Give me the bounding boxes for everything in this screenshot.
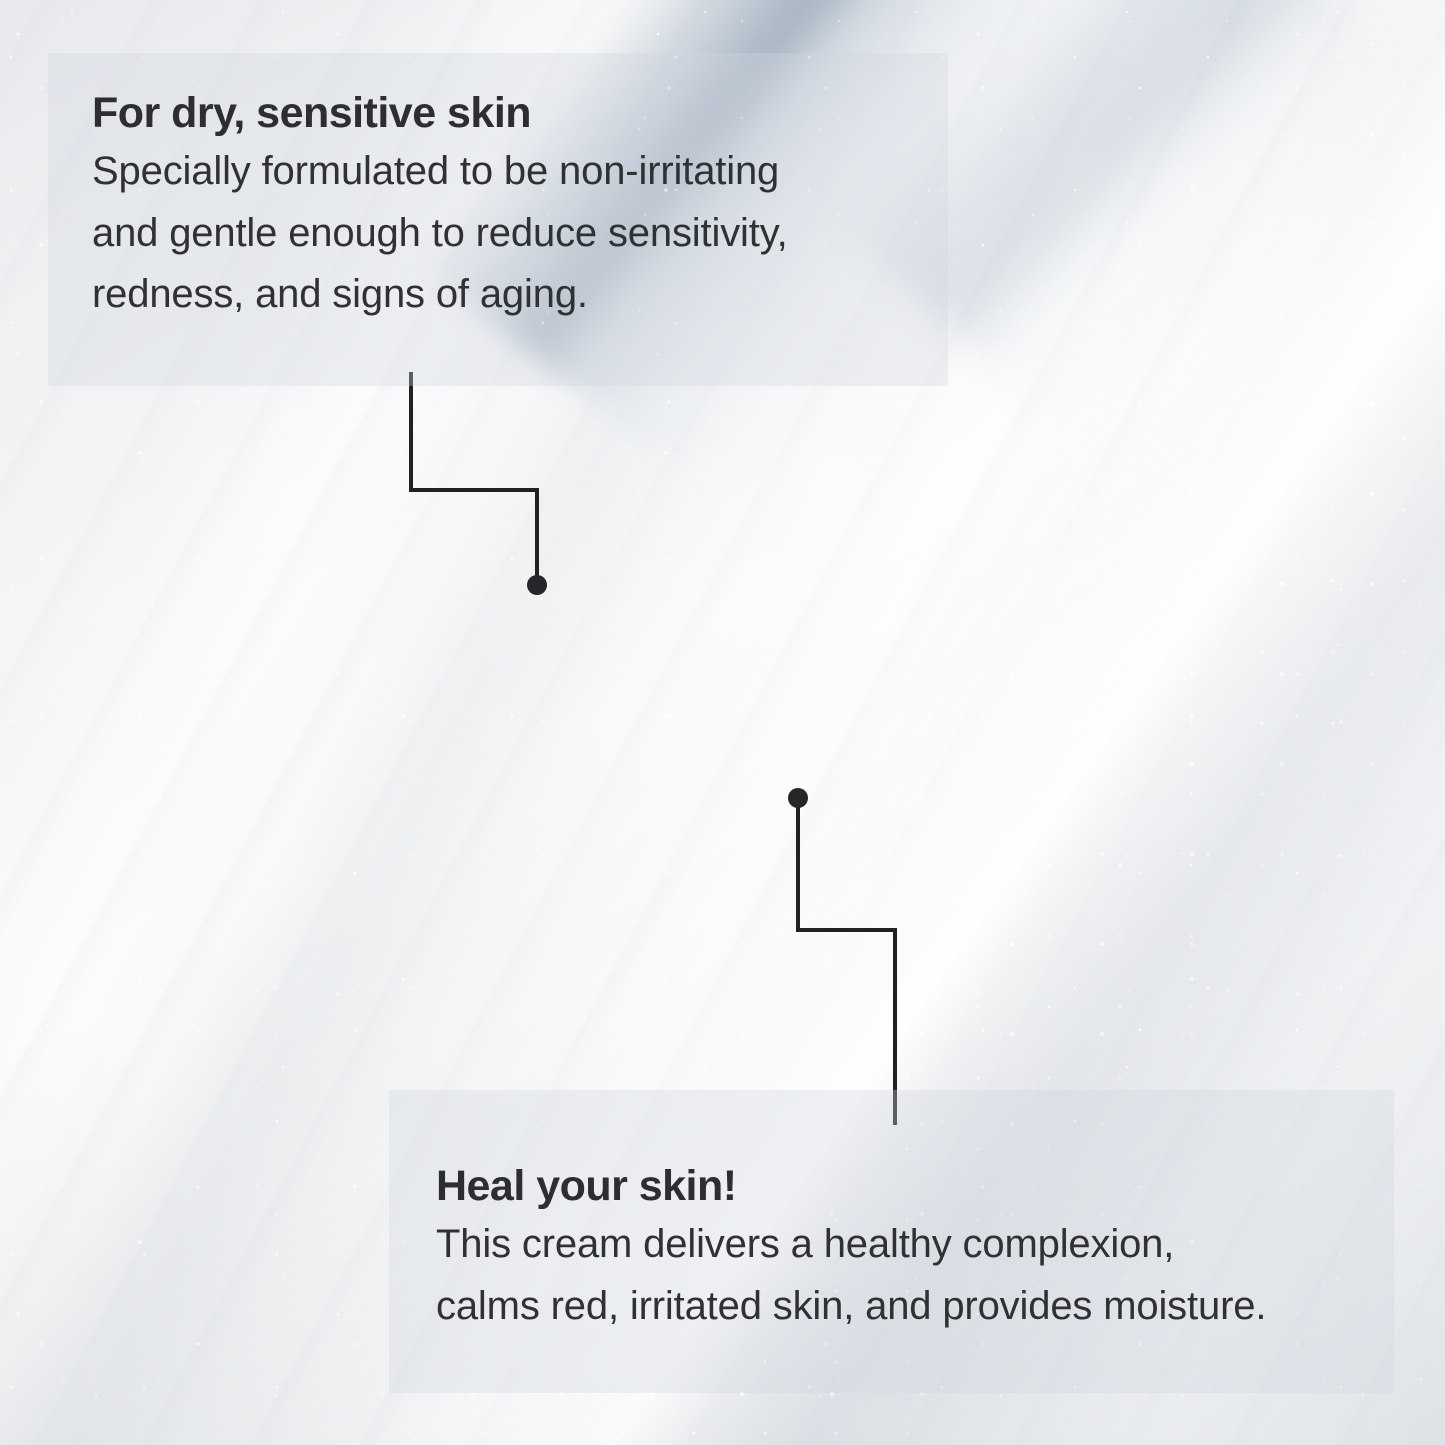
leader-dot-top-icon (527, 575, 547, 595)
callout-body: Specially formulated to be non-irritatin… (92, 141, 908, 326)
callout-body: This cream delivers a healthy complexion… (436, 1214, 1364, 1337)
callout-heading: For dry, sensitive skin (92, 89, 908, 137)
callout-heal-your-skin: Heal your skin! This cream delivers a he… (389, 1090, 1394, 1393)
callout-dry-sensitive-skin: For dry, sensitive skin Specially formul… (48, 53, 948, 386)
leader-line-bottom (798, 806, 895, 1125)
callout-heading: Heal your skin! (436, 1162, 1364, 1210)
leader-dot-bottom-icon (788, 788, 808, 808)
leader-line-top (411, 372, 537, 578)
infographic-canvas: For dry, sensitive skin Specially formul… (0, 0, 1445, 1445)
